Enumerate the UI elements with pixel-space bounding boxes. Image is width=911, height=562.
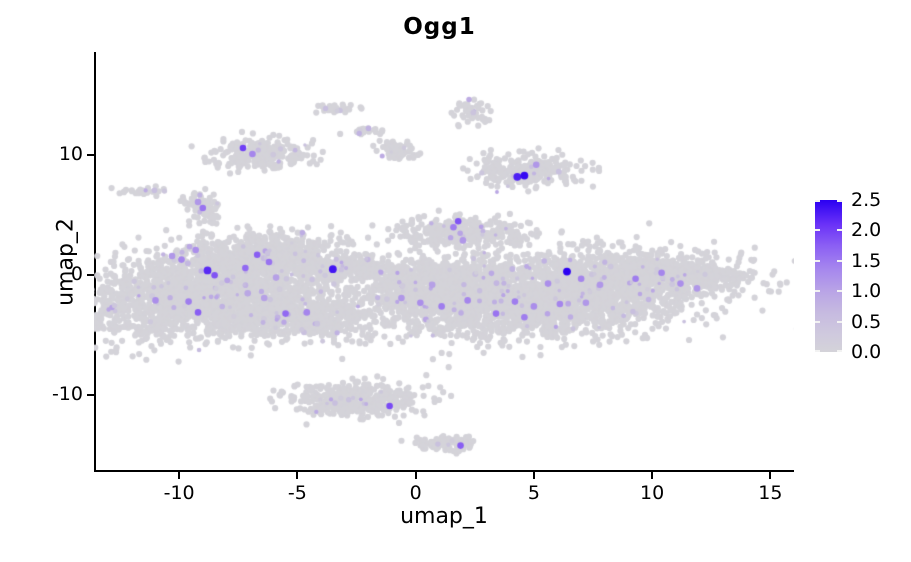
y-tick-mark <box>87 154 94 156</box>
x-tick-mark <box>533 472 535 479</box>
x-tick-label: 5 <box>528 482 540 504</box>
colorbar-tick-label: 1.0 <box>851 280 881 302</box>
colorbar-tick <box>815 290 842 292</box>
x-tick-mark <box>769 472 771 479</box>
y-tick-label: -10 <box>52 383 83 405</box>
y-tick-mark <box>87 394 94 396</box>
colorbar-tick <box>815 260 842 262</box>
colorbar-tick-label: 2.5 <box>851 189 881 211</box>
x-tick-label: -5 <box>288 482 307 504</box>
colorbar-tick-label: 2.0 <box>851 219 881 241</box>
expression-colorbar <box>815 200 842 352</box>
colorbar-tick <box>815 200 842 202</box>
colorbar-tick-label: 0.0 <box>851 341 881 363</box>
colorbar-tick <box>815 229 842 231</box>
colorbar-tick <box>815 350 842 352</box>
colorbar-tick-label: 0.5 <box>851 311 881 333</box>
x-tick-label: 15 <box>758 482 782 504</box>
colorbar-tick <box>815 321 842 323</box>
x-tick-label: -10 <box>164 482 195 504</box>
scatter-points <box>94 52 794 472</box>
scatter-canvas <box>94 52 794 472</box>
x-tick-mark <box>296 472 298 479</box>
x-axis-label: umap_1 <box>94 504 794 529</box>
umap-feature-plot: Ogg1 100-10 -10-5051015 umap_2 umap_1 2.… <box>0 0 911 562</box>
plot-axes: 100-10 -10-5051015 umap_2 umap_1 <box>94 52 794 472</box>
x-tick-mark <box>178 472 180 479</box>
y-tick-mark <box>87 274 94 276</box>
x-tick-label: 0 <box>410 482 422 504</box>
colorbar-group: 2.52.01.51.00.50.0 <box>815 200 842 352</box>
y-tick-label: 10 <box>59 143 83 165</box>
colorbar-tick-label: 1.5 <box>851 250 881 272</box>
x-tick-label: 10 <box>640 482 664 504</box>
x-tick-mark <box>415 472 417 479</box>
y-axis-label: umap_2 <box>53 218 78 306</box>
x-tick-mark <box>651 472 653 479</box>
page-title: Ogg1 <box>0 14 895 40</box>
